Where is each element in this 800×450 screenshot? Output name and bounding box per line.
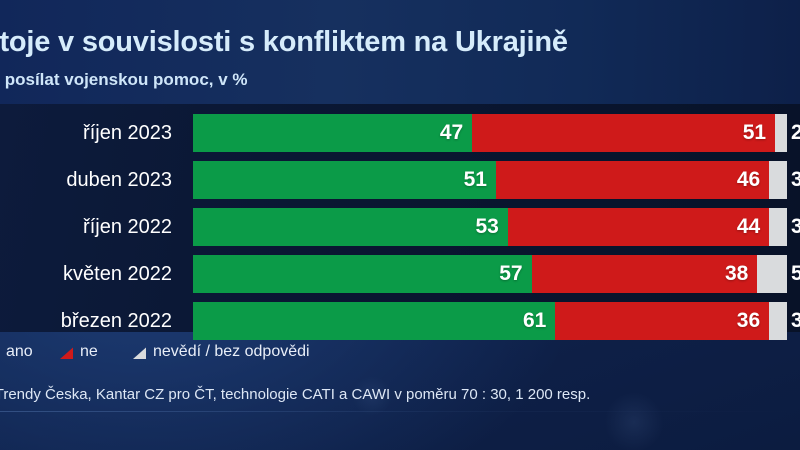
bar-value-label: 51 — [743, 121, 775, 145]
chart-row: říjen 202253443 — [0, 208, 800, 246]
row-category-label: říjen 2022 — [0, 208, 172, 246]
chart-row: květen 202257385 — [0, 255, 800, 293]
bar-value-label: 46 — [737, 168, 769, 192]
legend-item: nevědí / bez odpovědi — [133, 332, 310, 372]
stacked-bar: 5344 — [193, 208, 787, 246]
row-category-label: květen 2022 — [0, 255, 172, 293]
legend-label: nevědí / bez odpovědi — [153, 343, 310, 361]
bar-segment-dontknow — [769, 161, 787, 199]
chart-header: ostoje v souvislosti s konfliktem na Ukr… — [0, 0, 800, 104]
bar-segment-no: 51 — [472, 114, 775, 152]
bar-segment-no: 46 — [496, 161, 769, 199]
legend-item: ne — [60, 332, 98, 372]
chart-plot-area: říjen 202347512duben 202351463říjen 2022… — [0, 104, 800, 332]
chart-row: duben 202351463 — [0, 161, 800, 199]
bar-segment-yes: 57 — [193, 255, 532, 293]
bar-value-label-dontknow: 5 — [791, 255, 800, 293]
stacked-bar: 4751 — [193, 114, 787, 152]
bar-value-label-dontknow: 3 — [791, 161, 800, 199]
source-note: roj: Trendy Česka, Kantar CZ pro ČT, tec… — [0, 386, 800, 403]
chart-subtitle: dále posílat vojenskou pomoc, v % — [0, 70, 800, 90]
bar-value-label: 38 — [725, 262, 757, 286]
bar-value-label: 47 — [440, 121, 472, 145]
row-category-label: duben 2023 — [0, 161, 172, 199]
legend-label: ano — [6, 343, 33, 361]
legend-swatch-icon — [60, 345, 73, 359]
chart-legend: anonenevědí / bez odpovědi — [0, 332, 800, 372]
bar-value-label: 44 — [737, 215, 769, 239]
bar-segment-yes: 53 — [193, 208, 508, 246]
bar-value-label: 53 — [475, 215, 507, 239]
bar-value-label: 61 — [523, 309, 555, 333]
chart-title: ostoje v souvislosti s konfliktem na Ukr… — [0, 26, 800, 59]
broadcast-graphic: ostoje v souvislosti s konfliktem na Ukr… — [0, 0, 800, 450]
bar-segment-no: 38 — [532, 255, 758, 293]
bar-segment-dontknow — [769, 208, 787, 246]
bar-segment-yes: 47 — [193, 114, 472, 152]
chart-row: říjen 202347512 — [0, 114, 800, 152]
legend-label: ne — [80, 343, 98, 361]
row-category-label: říjen 2023 — [0, 114, 172, 152]
bar-value-label-dontknow: 3 — [791, 208, 800, 246]
bar-segment-yes: 51 — [193, 161, 496, 199]
bar-value-label: 57 — [499, 262, 531, 286]
bar-segment-no: 44 — [508, 208, 769, 246]
bar-segment-dontknow — [757, 255, 787, 293]
legend-item: ano — [0, 332, 33, 372]
bar-value-label: 51 — [464, 168, 496, 192]
stacked-bar: 5146 — [193, 161, 787, 199]
bar-value-label-dontknow: 2 — [791, 114, 800, 152]
bar-segment-dontknow — [775, 114, 787, 152]
legend-swatch-icon — [133, 345, 146, 359]
stacked-bar: 5738 — [193, 255, 787, 293]
bar-value-label: 36 — [737, 309, 769, 333]
